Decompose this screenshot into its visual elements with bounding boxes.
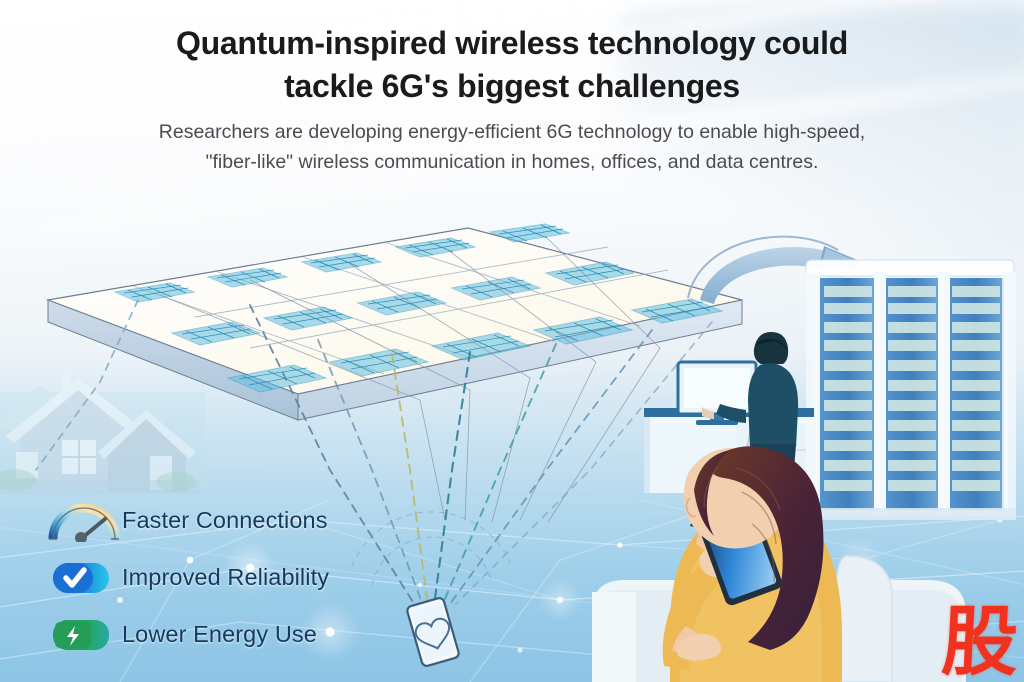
feature-item-lower-energy-use: Lower Energy Use: [46, 606, 416, 663]
title-line-2: tackle 6G's biggest challenges: [284, 68, 740, 104]
feature-item-improved-reliability: Improved Reliability: [46, 549, 416, 606]
page-subtitle: Researchers are developing energy-effici…: [0, 118, 1024, 177]
feature-label: Lower Energy Use: [122, 621, 317, 648]
feature-item-faster-connections: Faster Connections: [46, 492, 416, 549]
watermark-logo: 股: [940, 606, 1018, 678]
infographic-canvas: Quantum-inspired wireless technology cou…: [0, 0, 1024, 682]
subtitle-line-1: Researchers are developing energy-effici…: [159, 121, 865, 143]
title-line-1: Quantum-inspired wireless technology cou…: [176, 25, 848, 61]
house-illustration: [0, 374, 205, 494]
check-badge-icon: [46, 556, 122, 600]
server-rack-illustration: [806, 260, 1016, 520]
feature-label: Improved Reliability: [122, 564, 329, 591]
battery-bolt-icon: [46, 613, 122, 657]
feature-label: Faster Connections: [122, 507, 328, 534]
feature-list: Faster Connections Improv: [46, 492, 416, 663]
speedometer-gauge-icon: [46, 499, 122, 543]
subtitle-line-2: "fiber-like" wireless communication in h…: [206, 151, 819, 173]
page-title: Quantum-inspired wireless technology cou…: [0, 22, 1024, 107]
